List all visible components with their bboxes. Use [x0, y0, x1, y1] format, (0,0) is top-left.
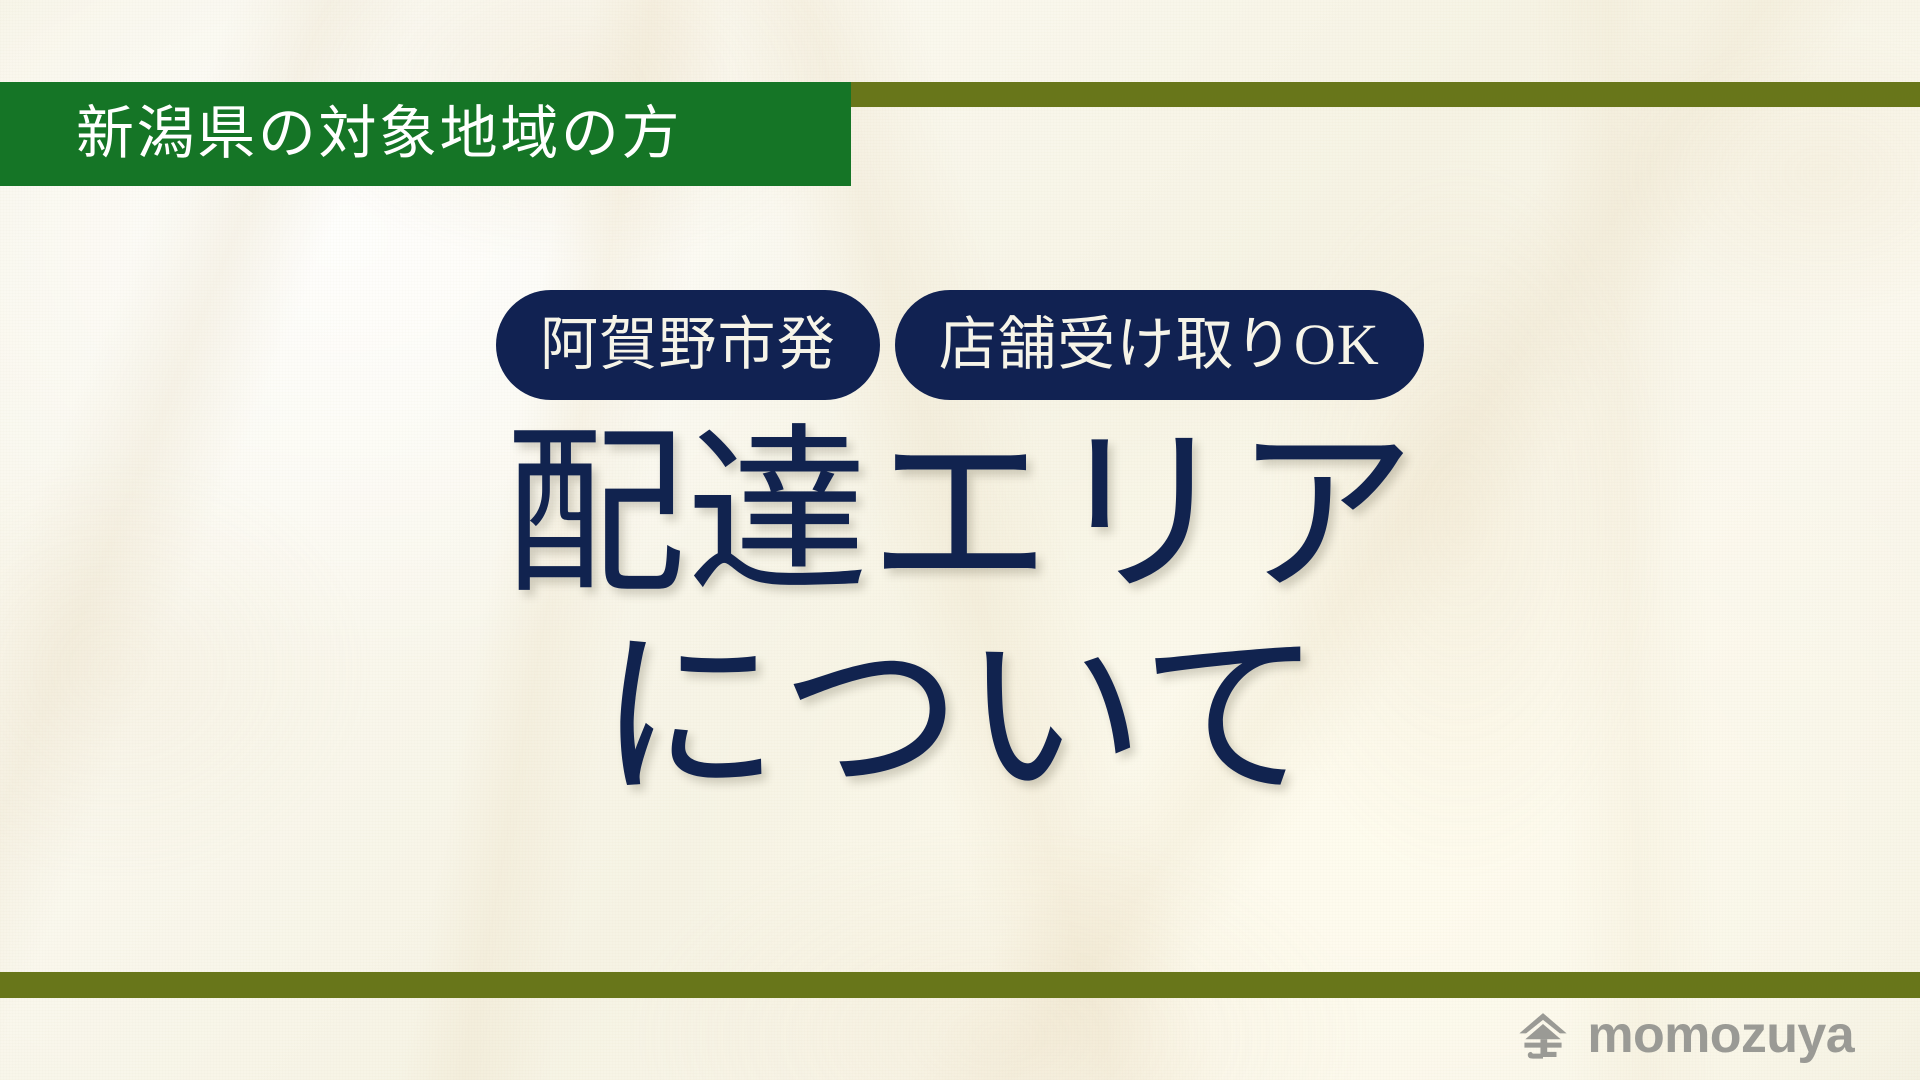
- page-title-line-1: 配達エリア: [0, 420, 1920, 613]
- badge-store-pickup-ok: 店舗受け取りOK: [895, 290, 1424, 400]
- eyebrow-ribbon-label: 新潟県の対象地域の方: [76, 105, 682, 163]
- brand-wordmark: momozuya: [1587, 1009, 1854, 1061]
- house-roof-icon: [1516, 1008, 1570, 1062]
- page-title-line-2: について: [0, 623, 1920, 816]
- bottom-divider-rule: [0, 972, 1920, 998]
- slide-canvas: 新潟県の対象地域の方 阿賀野市発 店舗受け取りOK 配達エリア について mom…: [0, 0, 1920, 1080]
- page-title: 配達エリア について: [0, 420, 1920, 816]
- eyebrow-ribbon: 新潟県の対象地域の方: [0, 82, 851, 186]
- badge-departure-city: 阿賀野市発: [496, 290, 880, 400]
- brand-logo: momozuya: [1516, 1008, 1854, 1062]
- badge-row: 阿賀野市発 店舗受け取りOK: [0, 290, 1920, 400]
